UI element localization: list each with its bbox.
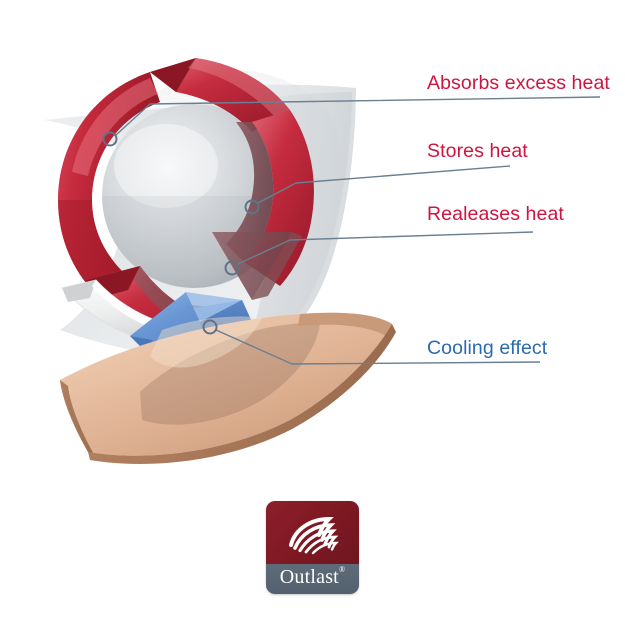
- label-cooling-effect: Cooling effect: [427, 339, 547, 359]
- outlast-wordmark-text: Outlast: [280, 566, 339, 588]
- outlast-wave-swoosh-icon: [285, 515, 341, 555]
- label-releases-heat: Realeases heat: [427, 205, 564, 225]
- label-absorbs-excess-heat: Absorbs excess heat: [427, 74, 610, 94]
- label-stores-heat: Stores heat: [427, 142, 528, 162]
- outlast-logo: Outlast®: [266, 501, 359, 594]
- outlast-wordmark: Outlast®: [266, 566, 359, 589]
- registered-trademark-mark: ®: [339, 565, 345, 574]
- diagram-canvas: Absorbs excess heat Stores heat Realease…: [0, 0, 625, 625]
